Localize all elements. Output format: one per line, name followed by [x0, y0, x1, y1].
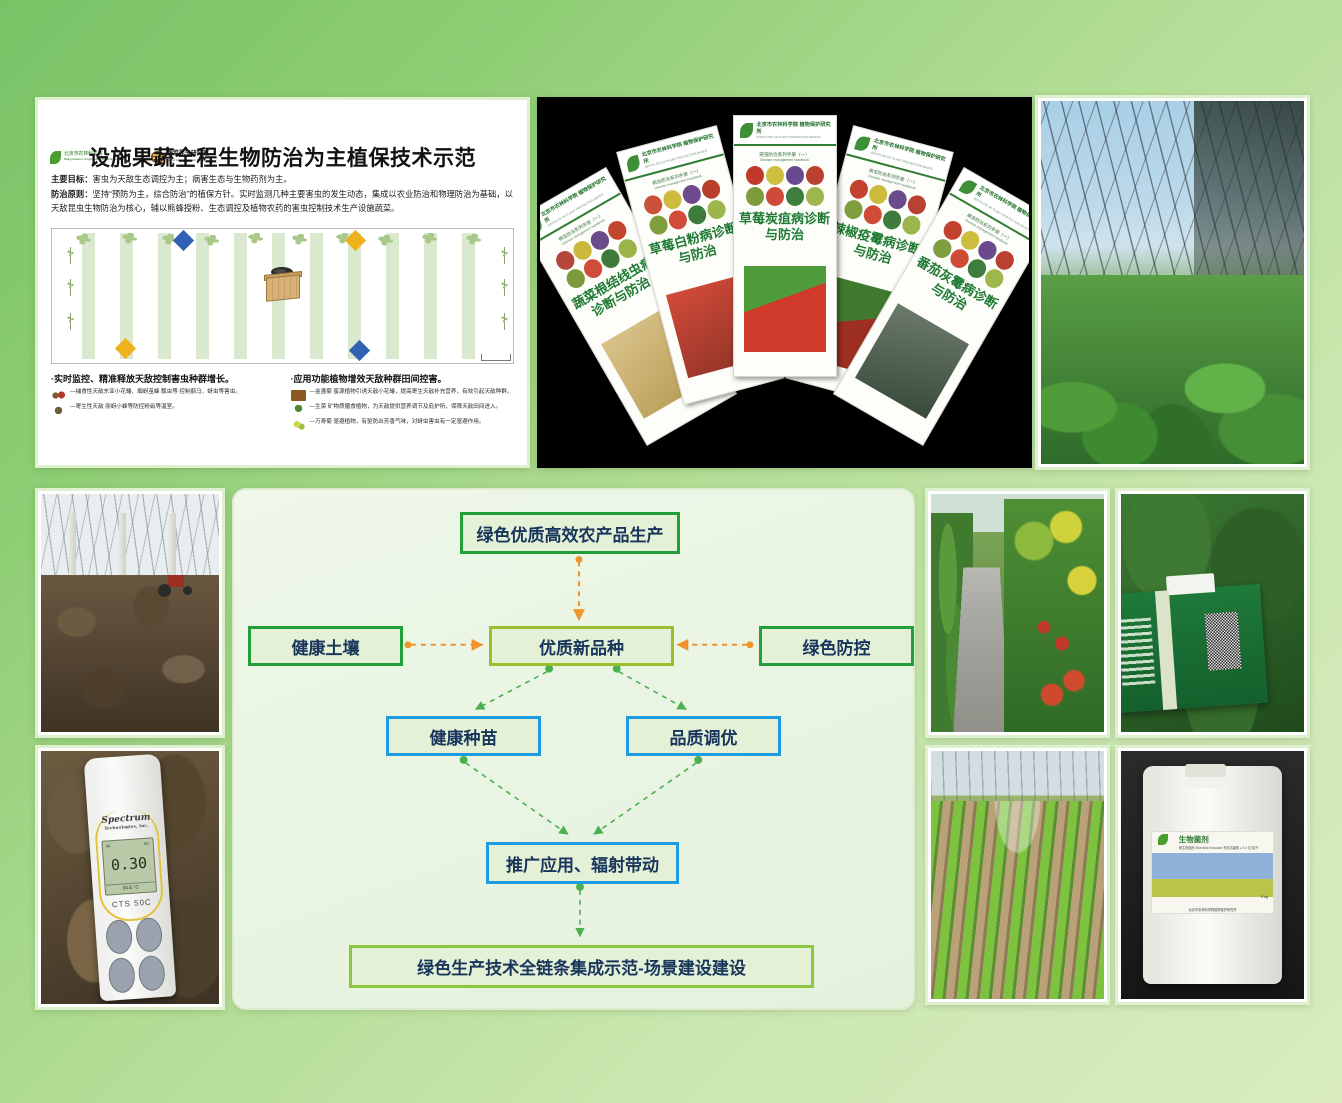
lettuce-beds — [931, 801, 1104, 999]
document-line-principle: 防治原则：坚持“预防为主，综合防治”的植保方针。实时监测几种主要害虫的发生动态，… — [51, 187, 514, 216]
node-healthy-seedling[interactable]: 健康种苗 — [386, 716, 541, 756]
brochure-item: 北京市农林科学院 植物保护研究所 INSTITUTE OF PLANT PROT… — [733, 115, 837, 377]
lettuce-icon — [291, 405, 306, 416]
sachet-package — [1121, 584, 1268, 713]
package-band — [1155, 590, 1177, 710]
brochures-photo: 北京市农林科学院 植物保护研究所 INSTITUTE OF PLANT PROT… — [537, 97, 1032, 468]
soil-surface — [41, 575, 219, 732]
greenhouse-schematic-figure — [51, 228, 514, 364]
footer-item: —万寿菊 驱避植物，有驱防出芳香气味，对蚜虫害虫有一定驱避作用。 — [291, 419, 515, 431]
footer-item: —金盏菊 蜜源植物引诱天敌小花蝽，提高寄生天敌补充营养，有效引起天敌种群。 — [291, 389, 515, 401]
footer-heading: ·应用功能植物增效天敌种群田间控害。 — [291, 372, 515, 385]
tractor-icon — [156, 575, 194, 597]
sachet-scene — [1121, 494, 1304, 732]
jug-cap — [1185, 764, 1227, 777]
document-body: 主要目标：害虫为天敌生态调控为主；病害生态与生物药剂为主。 防治原则：坚持“预防… — [51, 172, 514, 216]
footer-column-plants: ·应用功能植物增效天敌种群田间控害。 —金盏菊 蜜源植物引诱天敌小花蝽，提高寄生… — [291, 372, 515, 434]
flower-pot — [394, 273, 416, 287]
granules — [1166, 573, 1215, 595]
flower-pot — [336, 316, 358, 330]
tomato-rows-photo — [925, 488, 1110, 738]
device-lcd: All EC 0.30 34.6 °C — [101, 837, 157, 896]
jug-label-sub: 微生物菌剂 Microbial Inoculant 有效活菌数 ≥ 2.0 亿/… — [1179, 846, 1268, 850]
tilled-soil-photo — [35, 488, 225, 738]
flower-pot — [220, 317, 242, 331]
flower-pot — [448, 315, 470, 329]
greenhouse-scene — [1041, 101, 1304, 464]
flower-pot — [157, 275, 179, 289]
node-full-chain-demo[interactable]: 绿色生产技术全链条集成示范-场景建设建设 — [349, 945, 814, 988]
footer-item: —寄生性天敌 丽蚜小蜂等防控粉虱等温室。 — [51, 404, 275, 416]
jug-volume: 5 kg — [1261, 895, 1268, 899]
scale-bar — [481, 349, 511, 361]
jug-body: 生物菌剂 微生物菌剂 Microbial Inoculant 有效活菌数 ≥ 2… — [1143, 766, 1282, 984]
bio-agent-jug-photo: 生物菌剂 微生物菌剂 Microbial Inoculant 有效活菌数 ≥ 2… — [1115, 745, 1310, 1005]
qr-code-icon — [1204, 612, 1241, 671]
soil-meter-scene: Spectrum Technologies, Inc. All EC 0.30 … — [41, 751, 219, 1004]
brochures-photo-inner: 北京市农林科学院 植物保护研究所 INSTITUTE OF PLANT PROT… — [540, 100, 1029, 465]
node-green-control[interactable]: 绿色防控 — [759, 626, 914, 666]
jug-label: 生物菌剂 微生物菌剂 Microbial Inoculant 有效活菌数 ≥ 2… — [1151, 831, 1273, 914]
footer-column-monitoring: ·实时监控、精准释放天敌控制害虫种群增长。 —捕食性天敌东亚小花蝽、烟蚜茧蜂 瓢… — [51, 372, 275, 434]
tomato-right-row — [1004, 499, 1104, 732]
jug-label-title: 生物菌剂 — [1179, 834, 1268, 845]
cucumber-vines — [1041, 275, 1304, 464]
technology-roadmap-diagram: 绿色优质高效农产品生产 健康土壤 优质新品种 绿色防控 健康种苗 品质调优 推广… — [232, 488, 915, 1010]
node-green-production[interactable]: 绿色优质高效农产品生产 — [460, 512, 680, 554]
greenhouse-cucumber-photo — [1035, 95, 1310, 470]
document-footer: ·实时监控、精准释放天敌控制害虫种群增长。 —捕食性天敌东亚小花蝽、烟蚜茧蜂 瓢… — [51, 372, 514, 434]
greenhouse-film — [41, 494, 219, 580]
lcd-reading: 0.30 — [103, 853, 154, 874]
poster-canvas: 北京市农林科学院 Beijing Academy of Agriculture … — [0, 0, 1342, 1103]
marigold-icon — [291, 390, 306, 401]
lettuce-scene — [931, 751, 1104, 999]
soil-meter-photo: Spectrum Technologies, Inc. All EC 0.30 … — [35, 745, 225, 1010]
parasitoid-insect-icon — [51, 405, 66, 416]
tilled-soil-scene — [41, 494, 219, 732]
menu-button[interactable] — [108, 957, 136, 993]
device-buttons — [105, 917, 166, 994]
flower-pot — [104, 315, 126, 329]
package-text-block — [1121, 618, 1155, 686]
node-quality-optimization[interactable]: 品质调优 — [626, 716, 781, 756]
document-title: 设施果蔬全程生物防治为主植保技术示范 — [38, 142, 527, 172]
biocontrol-sachet-photo — [1115, 488, 1310, 738]
footer-item: —捕食性天敌东亚小花蝽、烟蚜茧蜂 瓢虫等 控制蓟马、蚜虫等害虫。 — [51, 389, 275, 401]
jug-scene: 生物菌剂 微生物菌剂 Microbial Inoculant 有效活菌数 ≥ 2… — [1121, 751, 1304, 999]
predator-insect-icon — [51, 390, 66, 401]
technology-demo-document: 北京市农林科学院 Beijing Academy of Agriculture … — [35, 97, 530, 468]
cal-button[interactable] — [135, 917, 163, 953]
node-promotion-radiation[interactable]: 推广应用、辐射带动 — [486, 842, 679, 884]
footer-heading: ·实时监控、精准释放天敌控制害虫种群增长。 — [51, 372, 275, 385]
diagram-connectors — [234, 490, 913, 1008]
lettuce-rows-photo — [925, 745, 1110, 1005]
jug-label-footer: 北京市农林科学院植物保护研究所 — [1152, 907, 1272, 912]
node-new-variety[interactable]: 优质新品种 — [489, 626, 674, 666]
bumblebee-hive — [264, 267, 302, 300]
document-line-objective: 主要目标：害虫为天敌生态调控为主；病害生态与生物药剂为主。 — [51, 172, 514, 187]
hold-button[interactable] — [138, 955, 166, 991]
footer-item: —生菜 矿物质膳食植物，为天敌提供营养调节及庇护所，保障天敌田间进入。 — [291, 404, 515, 416]
node-healthy-soil[interactable]: 健康土壤 — [248, 626, 403, 666]
flower-icon — [291, 420, 306, 431]
tomato-scene — [931, 494, 1104, 732]
power-button[interactable] — [105, 919, 133, 955]
soil-meter-device: Spectrum Technologies, Inc. All EC 0.30 … — [84, 754, 177, 1002]
lcd-temperature: 34.6 °C — [105, 882, 155, 893]
leaf-icon — [1158, 834, 1168, 845]
